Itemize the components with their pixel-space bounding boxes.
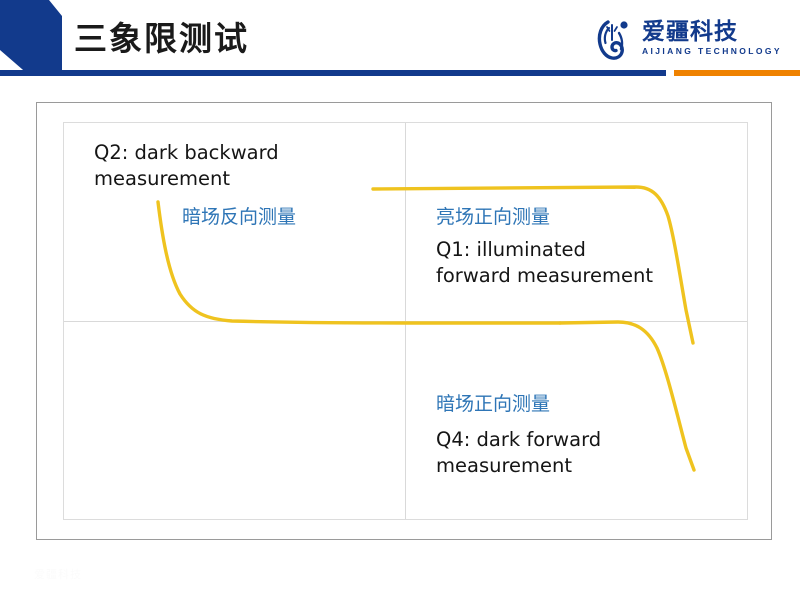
quadrant-q4-english-label: Q4: dark forward measurement	[436, 427, 601, 479]
header-rule-blue-segment	[0, 70, 668, 76]
logo-english-name: AIJIANG TECHNOLOGY	[642, 47, 782, 56]
quadrant-q2-chinese-label: 暗场反向测量	[182, 205, 296, 230]
header-rule	[0, 70, 800, 76]
logo-text-block: 爱疆科技 AIJIANG TECHNOLOGY	[642, 21, 782, 56]
aj-monogram-icon	[595, 16, 635, 60]
header-rule-orange-segment	[674, 70, 800, 76]
slide-header: 三象限测试 爱疆科技 AIJIANG TECHNOLOGY	[0, 0, 800, 80]
quadrant-q1-english-label: Q1: illuminated forward measurement	[436, 237, 653, 289]
page-title: 三象限测试	[74, 12, 249, 60]
brand-logo: 爱疆科技 AIJIANG TECHNOLOGY	[595, 12, 782, 64]
quadrant-q2-english-label: Q2: dark backward measurement	[94, 140, 279, 192]
quadrant-q1-chinese-label: 亮场正向测量	[436, 205, 550, 230]
footer-watermark: 爱疆科技	[34, 566, 82, 582]
quadrant-q4-chinese-label: 暗场正向测量	[436, 392, 550, 417]
logo-chinese-name: 爱疆科技	[642, 21, 782, 44]
quadrant-vertical-axis	[405, 123, 406, 519]
header-blue-accent-shape	[0, 0, 64, 76]
